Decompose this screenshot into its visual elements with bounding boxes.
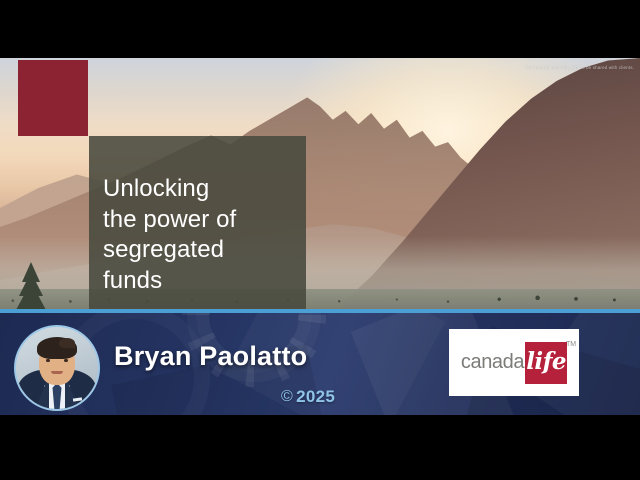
letterbox-top [0,0,640,58]
avatar-mouth [51,371,63,374]
trademark-icon: TM [566,341,576,348]
accent-divider [0,309,640,313]
avatar-hair [37,337,77,359]
slide-title-card: Unlocking the power of segregated funds [89,136,306,312]
copyright-year: 2025 [296,387,335,407]
foreground-pine-tree [14,250,48,312]
slide-title: Unlocking the power of segregated funds [103,174,306,297]
logo-word-canada: canada [461,351,524,374]
brand-accent-square [18,60,88,136]
speaker-name: Bryan Paolatto [114,341,307,372]
avatar-eye-left [46,359,50,362]
letterbox-bottom [0,415,640,480]
presentation-slide: Unlocking the power of segregated funds … [0,58,640,312]
speaker-avatar [14,325,100,411]
copyright-notice: © 2025 [281,387,335,407]
logo-red-square: life TM [525,342,567,384]
video-player-stage: Unlocking the power of segregated funds … [0,0,640,480]
lower-third-banner: Bryan Paolatto © 2025 canada life TM [0,313,640,415]
avatar-eye-right [64,359,68,362]
copyright-icon: © [281,388,293,406]
logo-word-life: life [526,348,566,375]
disclaimer-text: For internal use only. Not to be shared … [525,66,634,71]
canada-life-logo: canada life TM [449,329,579,396]
